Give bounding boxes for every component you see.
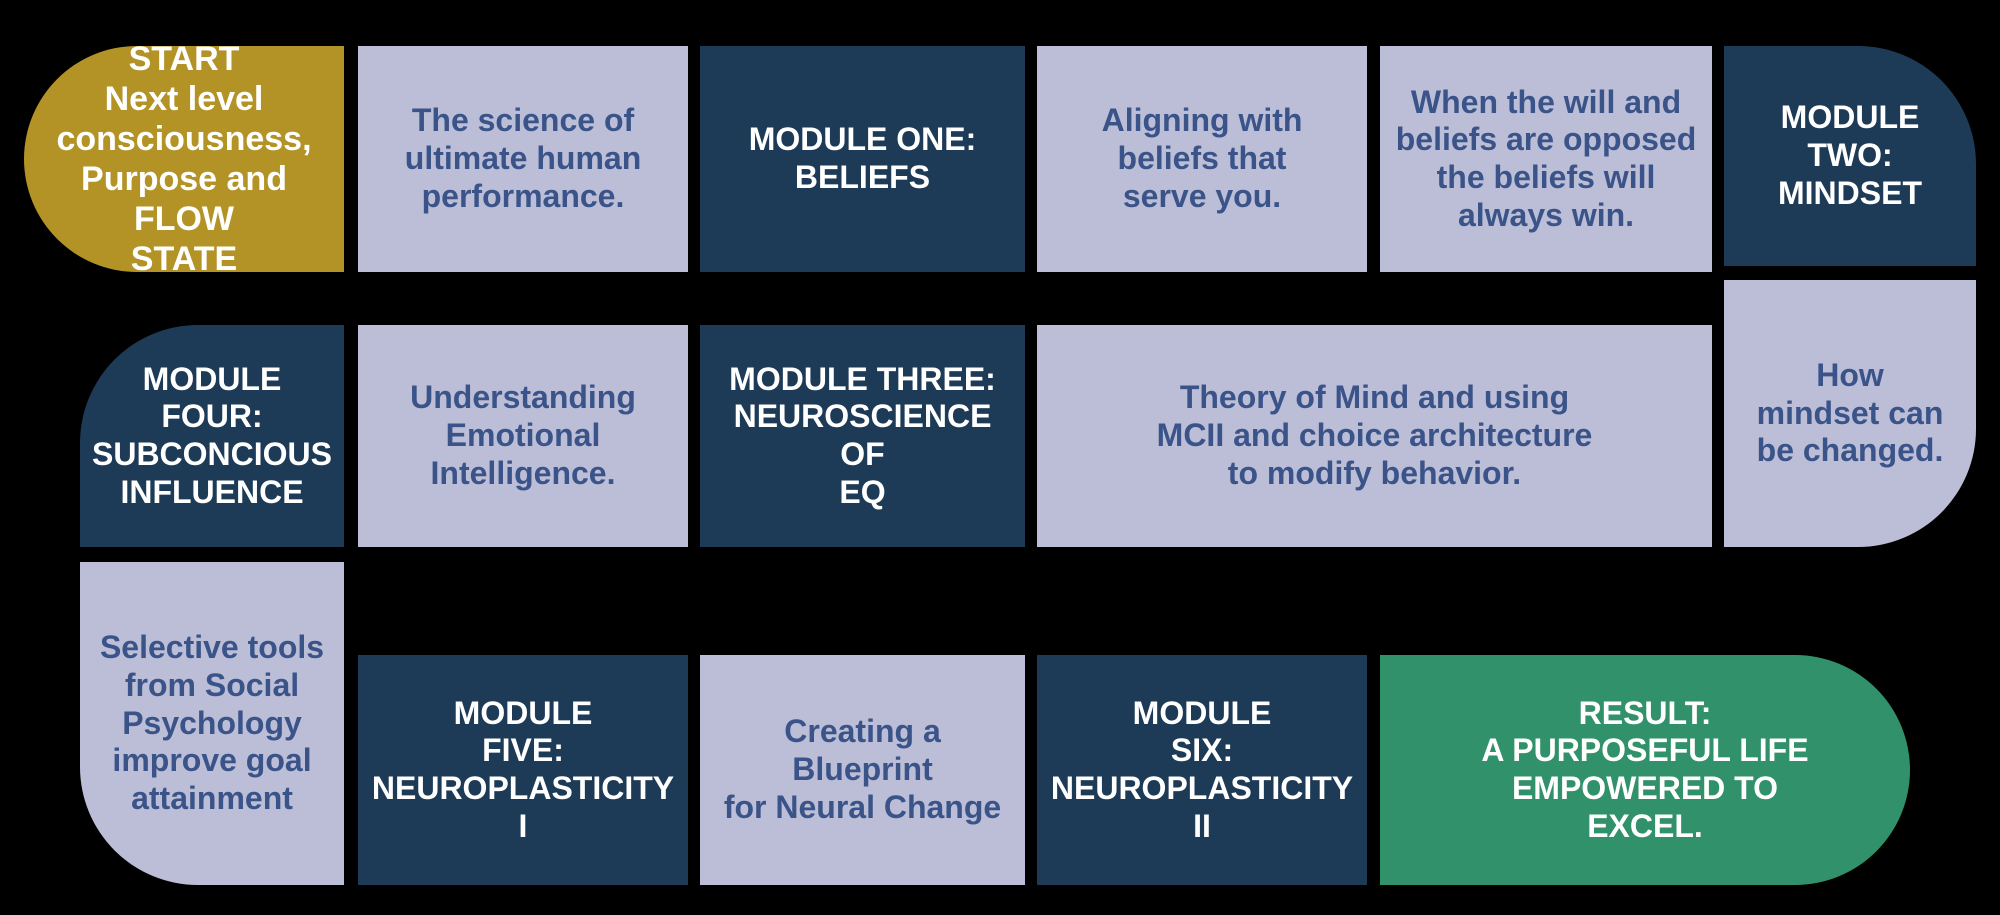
- cell-module-six-neuroplasticity-ii[interactable]: MODULE SIX: NEUROPLASTICITY II: [1037, 655, 1367, 885]
- cell-module-three-line-3: EQ: [710, 474, 1015, 512]
- cell-start-line-2: Next level: [34, 79, 334, 119]
- cell-will-line-4: always win.: [1396, 197, 1697, 235]
- cell-theory-line-3: to modify behavior.: [1157, 455, 1593, 493]
- cell-emotional-intelligence[interactable]: Understanding Emotional Intelligence.: [358, 325, 688, 547]
- cell-start-line-3: consciousness,: [34, 119, 334, 159]
- cell-social-line-5: attainment: [100, 780, 324, 818]
- cell-social-line-3: Psychology: [100, 705, 324, 743]
- cell-module-five-line-1: MODULE: [368, 695, 678, 733]
- cell-blueprint-neural-change[interactable]: Creating a Blueprint for Neural Change: [700, 655, 1025, 885]
- cell-social-line-4: improve goal: [100, 742, 324, 780]
- cell-will-and-beliefs[interactable]: When the will and beliefs are opposed th…: [1380, 46, 1712, 272]
- cell-mindset-line-1: How: [1757, 357, 1944, 395]
- cell-module-six-line-1: MODULE: [1047, 695, 1357, 733]
- cell-theory-of-mind[interactable]: Theory of Mind and using MCII and choice…: [1037, 325, 1712, 547]
- cell-module-three-line-1: MODULE THREE:: [710, 361, 1015, 399]
- cell-aligning-line-1: Aligning with: [1102, 102, 1303, 140]
- cell-module-five-line-3: NEUROPLASTICITY I: [368, 770, 678, 846]
- cell-module-five-neuroplasticity-i[interactable]: MODULE FIVE: NEUROPLASTICITY I: [358, 655, 688, 885]
- cell-module-four-line-1: MODULE: [92, 361, 332, 399]
- cell-blueprint-line-2: for Neural Change: [710, 789, 1015, 827]
- cell-social-psychology[interactable]: Selective tools from Social Psychology i…: [80, 562, 344, 885]
- cell-module-four-line-3: SUBCONCIOUS: [92, 436, 332, 474]
- cell-science-line-1: The science of: [405, 102, 641, 140]
- cell-module-three-neuroscience[interactable]: MODULE THREE: NEUROSCIENCE OF EQ: [700, 325, 1025, 547]
- cell-mindset-line-2: mindset can: [1757, 395, 1944, 433]
- cell-will-line-1: When the will and: [1396, 84, 1697, 122]
- cell-module-one-line-2: BELIEFS: [749, 159, 977, 197]
- cell-eq-line-1: Understanding: [410, 379, 636, 417]
- flowchart-diagram: START Next level consciousness, Purpose …: [0, 0, 2000, 915]
- cell-will-line-3: the beliefs will: [1396, 159, 1697, 197]
- cell-module-four-line-2: FOUR:: [92, 398, 332, 436]
- cell-module-one-line-1: MODULE ONE:: [749, 121, 977, 159]
- cell-start-line-5: STATE: [34, 239, 334, 279]
- cell-module-five-line-2: FIVE:: [368, 732, 678, 770]
- cell-science-line-3: performance.: [405, 178, 641, 216]
- cell-module-six-line-3: NEUROPLASTICITY II: [1047, 770, 1357, 846]
- cell-module-three-line-2: NEUROSCIENCE OF: [710, 398, 1015, 474]
- cell-mindset-line-3: be changed.: [1757, 432, 1944, 470]
- cell-science-line-2: ultimate human: [405, 140, 641, 178]
- cell-module-four-subconcious[interactable]: MODULE FOUR: SUBCONCIOUS INFLUENCE: [80, 325, 344, 547]
- cell-module-one-beliefs[interactable]: MODULE ONE: BELIEFS: [700, 46, 1025, 272]
- cell-theory-line-1: Theory of Mind and using: [1157, 379, 1593, 417]
- cell-science-of-performance[interactable]: The science of ultimate human performanc…: [358, 46, 688, 272]
- cell-blueprint-line-1: Creating a Blueprint: [710, 713, 1015, 789]
- cell-how-mindset-changed[interactable]: How mindset can be changed.: [1724, 280, 1976, 547]
- cell-social-line-2: from Social: [100, 667, 324, 705]
- cell-will-line-2: beliefs are opposed: [1396, 121, 1697, 159]
- cell-theory-line-2: MCII and choice architecture: [1157, 417, 1593, 455]
- cell-module-two-mindset[interactable]: MODULE TWO: MINDSET: [1724, 46, 1976, 266]
- cell-eq-line-2: Emotional: [410, 417, 636, 455]
- cell-module-two-line-1: MODULE: [1778, 99, 1922, 137]
- cell-module-two-line-3: MINDSET: [1778, 175, 1922, 213]
- cell-module-two-line-2: TWO:: [1778, 137, 1922, 175]
- cell-start-line-4: Purpose and FLOW: [34, 159, 334, 239]
- cell-aligning-beliefs[interactable]: Aligning with beliefs that serve you.: [1037, 46, 1367, 272]
- cell-result-line-3: EMPOWERED TO: [1481, 770, 1808, 808]
- cell-aligning-line-3: serve you.: [1102, 178, 1303, 216]
- cell-start-line-1: START: [34, 39, 334, 79]
- cell-module-four-line-4: INFLUENCE: [92, 474, 332, 512]
- cell-start[interactable]: START Next level consciousness, Purpose …: [24, 46, 344, 272]
- cell-social-line-1: Selective tools: [100, 629, 324, 667]
- cell-module-six-line-2: SIX:: [1047, 732, 1357, 770]
- cell-result[interactable]: RESULT: A PURPOSEFUL LIFE EMPOWERED TO E…: [1380, 655, 1910, 885]
- cell-eq-line-3: Intelligence.: [410, 455, 636, 493]
- cell-aligning-line-2: beliefs that: [1102, 140, 1303, 178]
- cell-result-line-1: RESULT:: [1481, 695, 1808, 733]
- cell-result-line-2: A PURPOSEFUL LIFE: [1481, 732, 1808, 770]
- cell-result-line-4: EXCEL.: [1481, 808, 1808, 846]
